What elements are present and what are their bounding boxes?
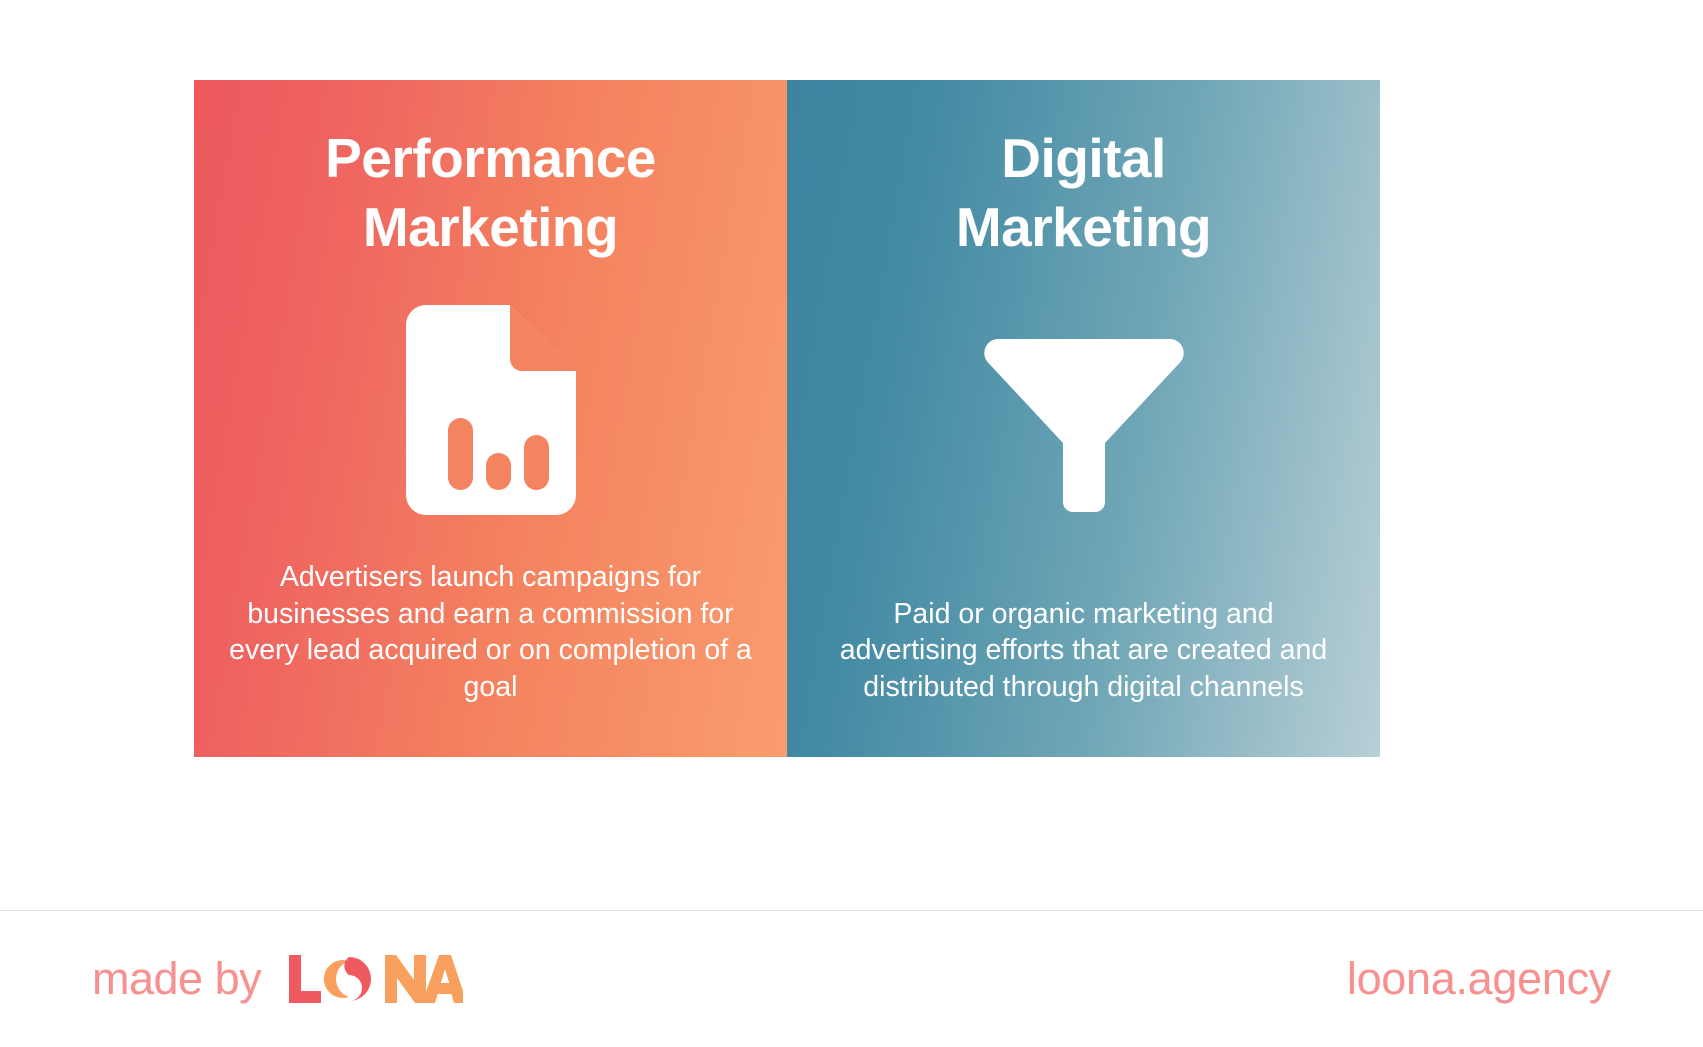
document-bar-chart-icon [406,305,576,515]
panel-description-digital-marketing: Paid or organic marketing and advertisin… [821,596,1346,705]
made-by-label: made by [92,953,261,1005]
panel-title-performance-marketing: Performance Marketing [325,124,656,262]
panel-performance-marketing: Performance Marketing Advertisers launch… [194,80,787,757]
comparison-card: Performance Marketing Advertisers launch… [194,80,1380,757]
funnel-icon [984,339,1184,519]
panel-description-performance-marketing: Advertisers launch campaigns for busines… [228,559,753,705]
made-by-block: made by [92,953,463,1005]
loona-logo-icon[interactable] [287,953,463,1005]
footer: made by loona.agency [0,911,1703,1047]
infographic-canvas: Performance Marketing Advertisers launch… [0,0,1703,1047]
site-url-label[interactable]: loona.agency [1347,953,1611,1005]
panel-title-digital-marketing: Digital Marketing [956,124,1211,262]
panel-digital-marketing: Digital Marketing Paid or organic market… [787,80,1380,757]
icon-container-performance-marketing [228,262,753,560]
icon-container-digital-marketing [821,262,1346,596]
